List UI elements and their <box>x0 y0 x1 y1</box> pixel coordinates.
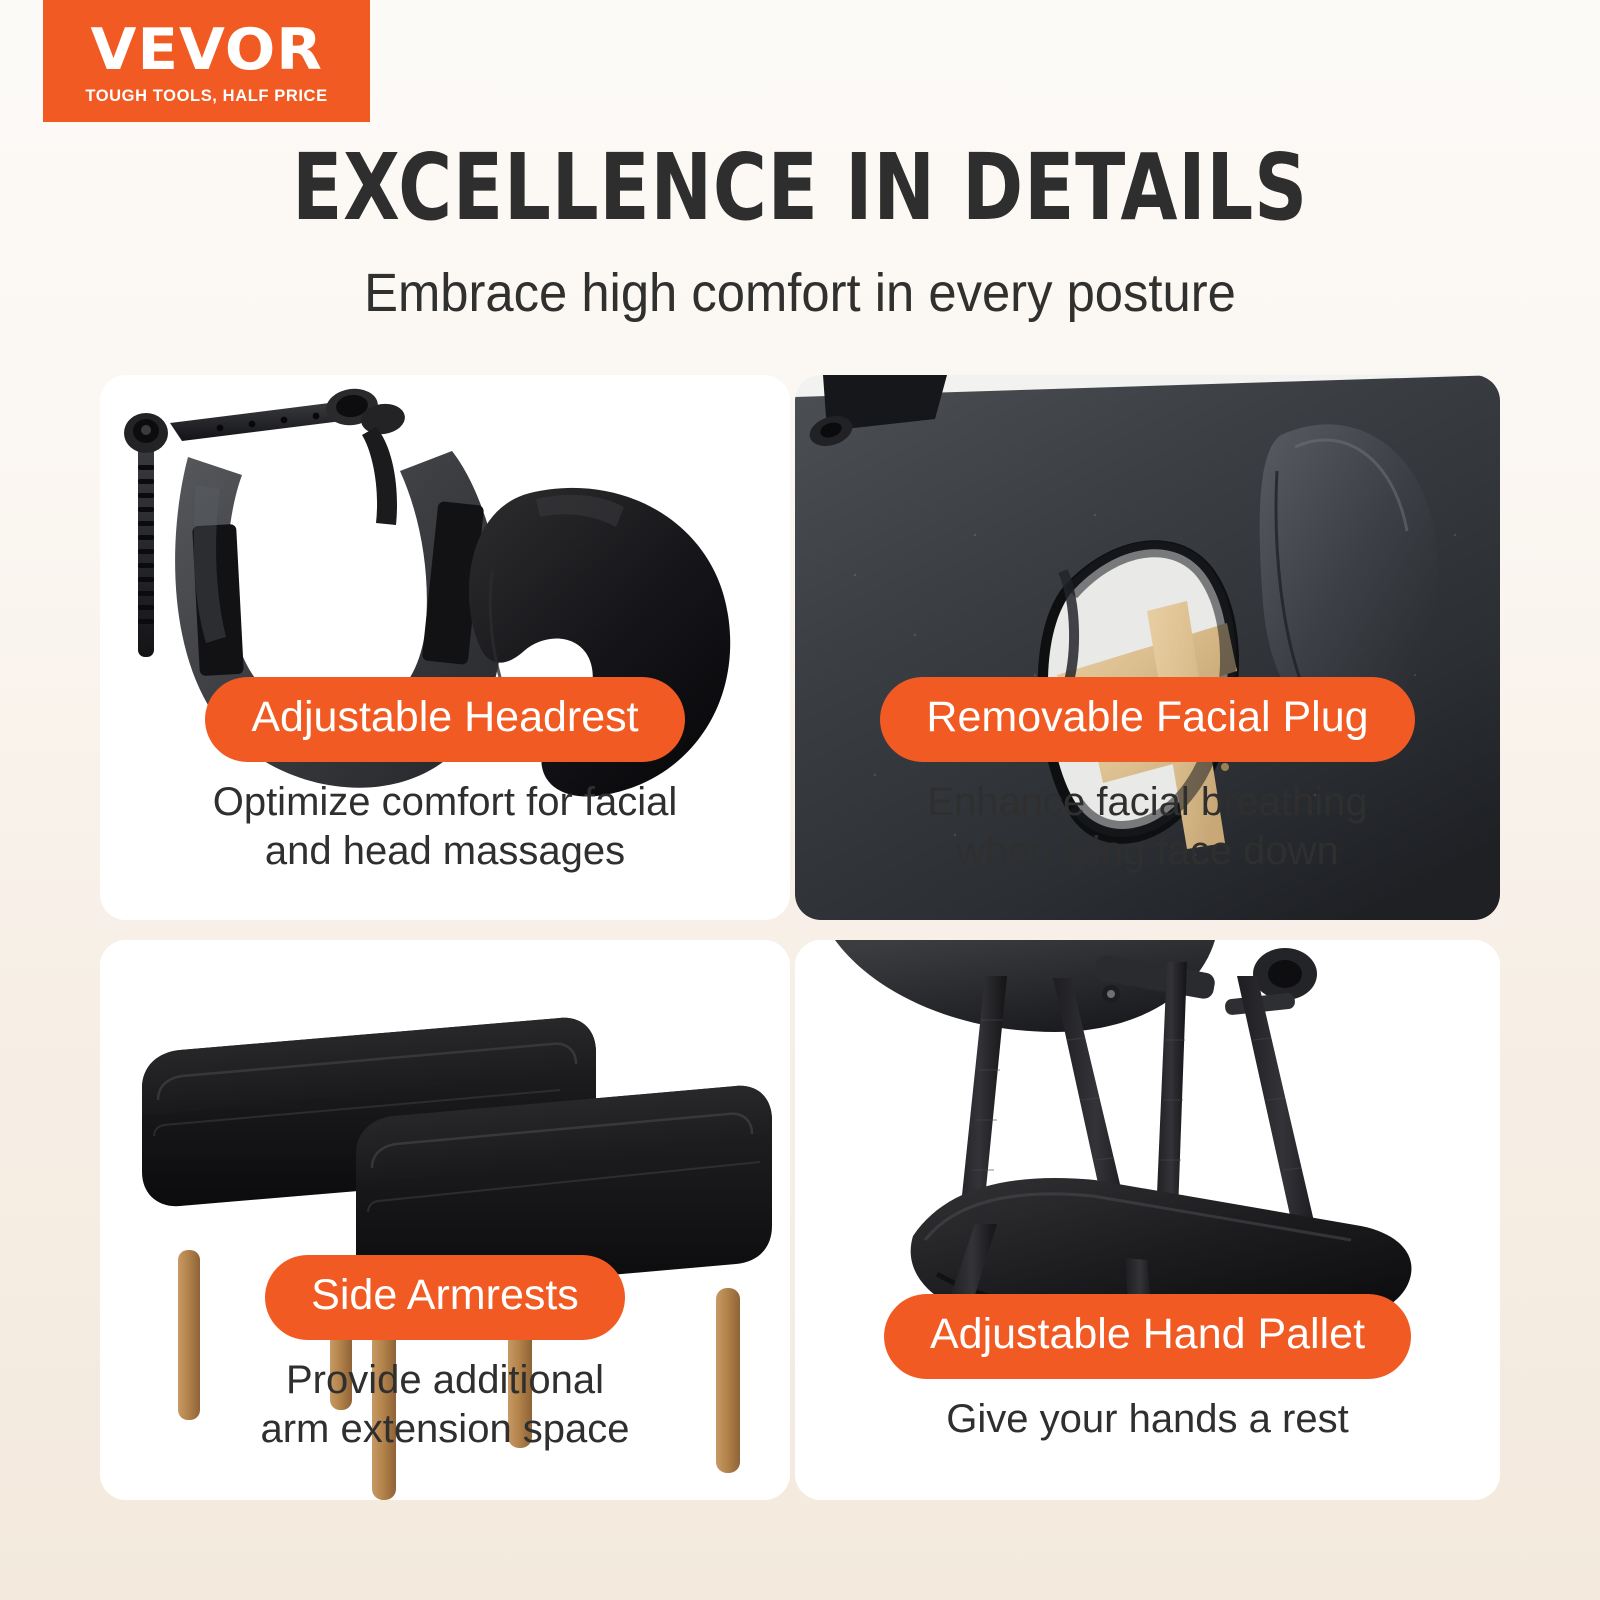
feature-description-adjustable-hand-pallet: Give your hands a rest <box>926 1395 1368 1470</box>
feature-card-adjustable-hand-pallet: Adjustable Hand Pallet Give your hands a… <box>795 940 1500 1500</box>
feature-label-side-armrests: Side Armrests <box>265 1255 625 1340</box>
feature-card-removable-facial-plug: Removable Facial Plug Enhance facial bre… <box>795 375 1500 920</box>
feature-card-side-armrests: Side Armrests Provide additional arm ext… <box>100 940 790 1500</box>
feature-card-grid: Adjustable Headrest Optimize comfort for… <box>0 0 1600 1600</box>
feature-label-removable-facial-plug: Removable Facial Plug <box>880 677 1414 762</box>
feature-label-adjustable-headrest: Adjustable Headrest <box>205 677 684 762</box>
card-caption: Side Armrests Provide additional arm ext… <box>100 1255 790 1480</box>
feature-label-adjustable-hand-pallet: Adjustable Hand Pallet <box>884 1294 1411 1379</box>
feature-card-adjustable-headrest: Adjustable Headrest Optimize comfort for… <box>100 375 790 920</box>
feature-description-removable-facial-plug: Enhance facial breathing when lying face… <box>907 778 1387 902</box>
card-caption: Removable Facial Plug Enhance facial bre… <box>795 677 1500 902</box>
feature-description-adjustable-headrest: Optimize comfort for facial and head mas… <box>193 778 698 902</box>
card-caption: Adjustable Hand Pallet Give your hands a… <box>795 1294 1500 1470</box>
card-caption: Adjustable Headrest Optimize comfort for… <box>100 677 790 902</box>
feature-description-side-armrests: Provide additional arm extension space <box>240 1356 649 1480</box>
